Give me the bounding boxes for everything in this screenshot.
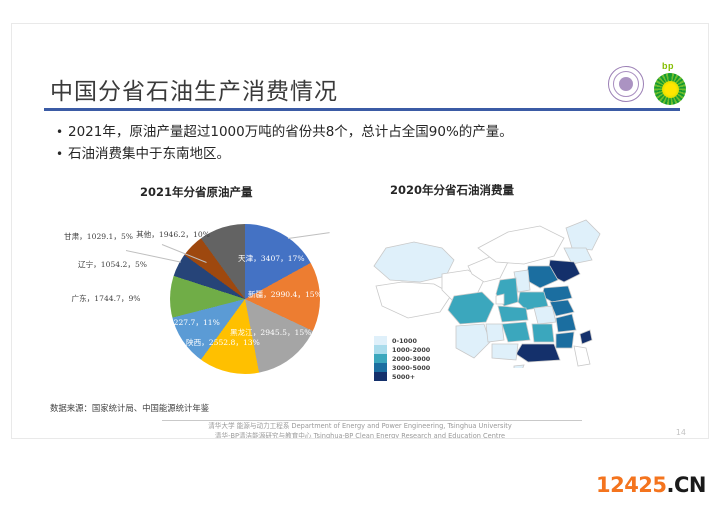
pie-label-heilongjiang: 黑龙江，2945.5，15% xyxy=(230,328,290,338)
footer: 清华大学 能源与动力工程系 Department of Energy and P… xyxy=(12,422,708,438)
legend-label: 1000-2000 xyxy=(392,346,430,354)
bullet-list: • 2021年，原油产量超过1000万吨的省份共8个，总计占全国90%的产量。 … xyxy=(56,122,656,166)
footer-line-1: 清华大学 能源与动力工程系 Department of Energy and P… xyxy=(12,422,708,432)
watermark-prefix: 12425 xyxy=(596,473,667,497)
logo-group: bp xyxy=(608,66,688,102)
site-watermark: 12425.CN xyxy=(596,473,706,497)
footer-line-2: 清华-BP清洁能源研究与教育中心 Tsinghua-BP Clean Energ… xyxy=(12,432,708,439)
legend-item: 2000-3000 xyxy=(374,354,430,363)
bp-logo: bp xyxy=(654,63,688,105)
legend-label: 0-1000 xyxy=(392,337,417,345)
page-title: 中国分省石油生产消费情况 xyxy=(50,72,338,106)
legend-item: 5000+ xyxy=(374,372,430,381)
bullet-dot-icon: • xyxy=(56,122,68,142)
pie-label-xinjiang: 新疆，2990.4，15% xyxy=(248,290,316,300)
map-chart-title: 2020年分省石油消费量 xyxy=(390,182,514,198)
pie-chart-title: 2021年分省原油产量 xyxy=(140,184,253,200)
pie-chart: 甘肃，1029.1，5% 其他，1946.2，10% 辽宁，1054.2，5% … xyxy=(52,202,362,392)
bp-helios-icon xyxy=(654,73,686,105)
legend-label: 3000-5000 xyxy=(392,364,430,372)
pie-label-guangdong: 广东，1744.7，9% xyxy=(68,294,144,304)
legend-swatch xyxy=(374,372,387,381)
bullet-text: 石油消费集中于东南地区。 xyxy=(68,144,230,164)
pie-label-liaoning: 辽宁，1054.2，5% xyxy=(78,260,144,270)
pie-label-tianjin: 天津，3407，17% xyxy=(238,254,300,264)
page-number: 14 xyxy=(676,428,686,437)
pie-label-shandong: 山东，2227.7，11% xyxy=(146,318,198,328)
bullet-dot-icon: • xyxy=(56,144,68,164)
legend-swatch xyxy=(374,354,387,363)
title-divider xyxy=(44,108,680,111)
map-legend: 0-1000 1000-2000 2000-3000 3000-5000 500… xyxy=(374,336,430,381)
footer-divider xyxy=(162,420,582,421)
legend-swatch xyxy=(374,336,387,345)
list-item: • 2021年，原油产量超过1000万吨的省份共8个，总计占全国90%的产量。 xyxy=(56,122,656,142)
legend-swatch xyxy=(374,345,387,354)
bullet-text: 2021年，原油产量超过1000万吨的省份共8个，总计占全国90%的产量。 xyxy=(68,122,513,142)
legend-swatch xyxy=(374,363,387,372)
pie-label-gansu: 甘肃，1029.1，5% xyxy=(64,232,126,242)
legend-item: 1000-2000 xyxy=(374,345,430,354)
legend-item: 3000-5000 xyxy=(374,363,430,372)
slide: 中国分省石油生产消费情况 bp • 2021年，原油产量超过1000万吨的省份共… xyxy=(12,24,708,438)
source-note: 数据来源：国家统计局、中国能源统计年鉴 xyxy=(50,402,209,414)
list-item: • 石油消费集中于东南地区。 xyxy=(56,144,656,164)
china-consumption-map: 0-1000 1000-2000 2000-3000 3000-5000 500… xyxy=(368,200,668,396)
pie-label-shaanxi: 陕西，2552.8，13% xyxy=(186,338,238,348)
watermark-suffix: .CN xyxy=(667,473,706,497)
bp-wordmark: bp xyxy=(662,61,674,71)
legend-label: 2000-3000 xyxy=(392,355,430,363)
pie-label-other: 其他，1946.2，10% xyxy=(130,230,216,240)
tsinghua-seal-icon xyxy=(608,66,644,102)
legend-label: 5000+ xyxy=(392,373,415,381)
legend-item: 0-1000 xyxy=(374,336,430,345)
leader-line xyxy=(288,232,330,239)
